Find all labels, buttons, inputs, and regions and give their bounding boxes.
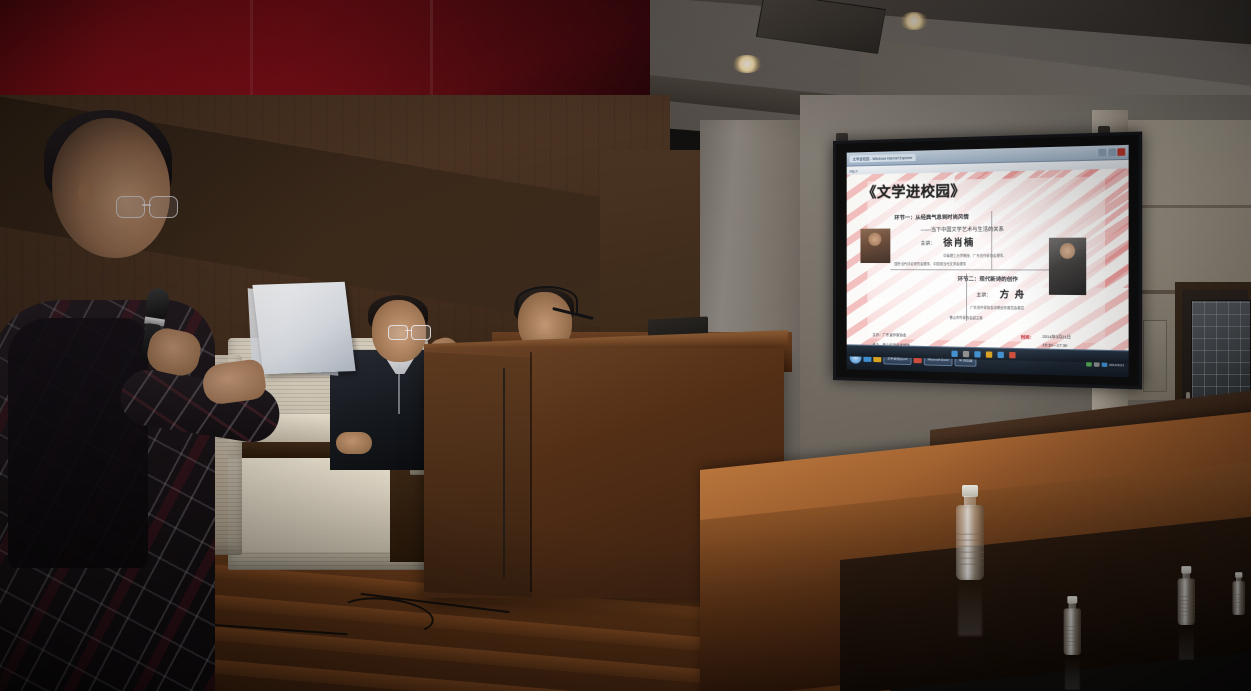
bottle-reflection — [1179, 626, 1194, 660]
address-text: http:// — [850, 169, 858, 173]
speaker-vest — [8, 318, 148, 568]
info-time-value-2: 15:30—17:30 — [1042, 343, 1067, 348]
projection-screen: 文学进校园 - Windows Internet Explorer http:/… — [833, 132, 1142, 390]
bottle-ribs — [956, 531, 984, 565]
podium-left-face — [424, 352, 532, 598]
toolbar-icon[interactable] — [997, 351, 1003, 357]
bottle-reflection — [1065, 656, 1080, 690]
eyeglasses-icon — [388, 325, 432, 340]
bottle-ribs — [1178, 595, 1195, 616]
toolbar-icon[interactable] — [974, 351, 980, 357]
presentation-slide: 《文学进校园》 环节一：从经典气息到时尚风情 ——当下中国文学艺术与生活的关系 … — [847, 169, 1129, 352]
section-one-label: 环节一：从经典气息到时尚风情 — [894, 213, 968, 221]
section-one-credentials-1: 华南理工大学教授、广东省作家协会理事、 — [943, 253, 1006, 258]
door-glass-lattice — [1191, 300, 1251, 400]
section-two-credentials-1: 广东省作家协会诗歌创作委员会委员 — [970, 304, 1024, 310]
microphone-cable — [503, 368, 505, 578]
toolbar-icon[interactable] — [951, 350, 957, 356]
water-bottle[interactable] — [1232, 572, 1246, 615]
bottle-ribs — [1232, 593, 1245, 608]
speaker-two-portrait — [1049, 238, 1086, 296]
close-icon[interactable] — [1117, 148, 1125, 156]
bottle-reflection — [958, 581, 982, 636]
section-one-speaker-name: 徐肖楠 — [943, 235, 974, 249]
browser-tab-label[interactable]: 文学进校园 - Windows Internet Explorer — [850, 154, 916, 163]
slide-title: 《文学进校园》 — [862, 180, 965, 202]
slide-divider-vertical — [966, 273, 967, 321]
podium-edge-seam — [530, 352, 532, 592]
speaker-paper-sheet — [252, 282, 355, 375]
lecture-hall-photo: 文学进校园 - Windows Internet Explorer http:/… — [0, 0, 1251, 691]
wall-notice-board — [1143, 320, 1167, 392]
mic-head — [144, 287, 170, 320]
speaker-ear — [78, 182, 94, 204]
chair-side-panel — [234, 456, 396, 552]
projection-screen-surface: 文学进校园 - Windows Internet Explorer http:/… — [847, 145, 1129, 377]
bottle-ribs — [1064, 625, 1081, 646]
windows-taskbar: 文学进校园.ppt Microsoft Excel IE 浏览器 15:42 2… — [847, 344, 1129, 377]
clock-date: 2014/3/21 — [1109, 363, 1124, 368]
minimize-icon[interactable] — [1098, 149, 1106, 157]
info-time-value-1: 2014年3月21日 — [1042, 335, 1071, 341]
info-time-label: 时间： — [1021, 334, 1034, 341]
eyeglasses-icon — [116, 196, 182, 218]
section-one-credentials-2: 国外当代评论研究会理事、中国现当代文学会理事 — [894, 261, 966, 266]
water-bottle[interactable] — [1063, 596, 1082, 655]
water-bottle[interactable] — [1177, 566, 1196, 625]
window-controls — [1098, 148, 1125, 156]
section-one-speaker-prefix: 主讲： — [921, 240, 935, 246]
toolbar-icon[interactable] — [985, 351, 991, 357]
maximize-icon[interactable] — [1108, 148, 1116, 156]
toolbar-icon[interactable] — [1009, 351, 1015, 357]
section-two-speaker-name: 方 舟 — [1000, 287, 1026, 301]
section-two-speaker-prefix: 主讲： — [976, 292, 991, 298]
slide-content: 《文学进校园》 环节一：从经典气息到时尚风情 ——当下中国文学艺术与生活的关系 … — [847, 169, 1129, 352]
organizer-line-1: 主办：广东省作家协会 — [872, 332, 906, 338]
seated-man-zipper — [398, 364, 400, 414]
ceiling-downlight-icon — [732, 55, 762, 73]
speaker-one-portrait — [860, 229, 890, 264]
water-bottle[interactable] — [955, 485, 985, 580]
toolbar-icon[interactable] — [962, 350, 968, 356]
seated-man-resting-hand — [336, 432, 372, 454]
ceiling-downlight-icon — [900, 12, 928, 30]
slide-divider-vertical — [991, 211, 992, 269]
